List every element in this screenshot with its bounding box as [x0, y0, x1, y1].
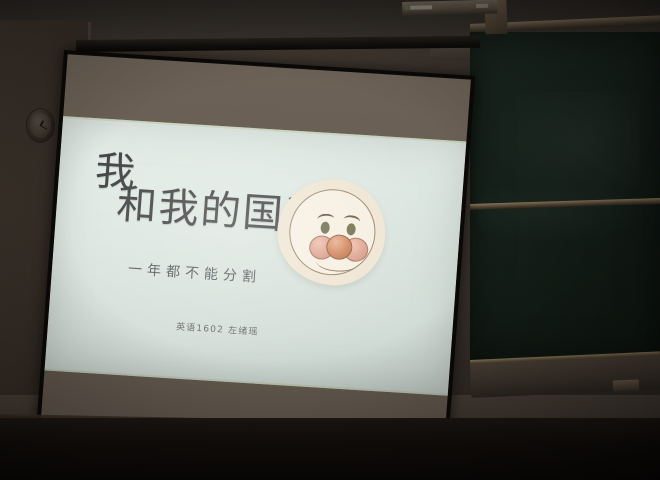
anpanman-face-illustration — [274, 176, 390, 288]
projected-image-area: 我 和我的国奖 一年都不能分割 英语1602 左绪瑶 — [44, 116, 466, 396]
screen-fabric: 我 和我的国奖 一年都不能分割 英语1602 左绪瑶 — [40, 54, 470, 450]
chalk-ledge — [470, 355, 660, 398]
slide-subtitle: 一年都不能分割 — [127, 258, 261, 286]
indicator-led-icon — [405, 6, 409, 10]
screen-frame: 我 和我的国奖 一年都不能分割 英语1602 左绪瑶 — [36, 50, 475, 455]
projection-screen: 我 和我的国奖 一年都不能分割 英语1602 左绪瑶 — [58, 40, 478, 445]
wall-clock — [26, 108, 55, 143]
eye-right-icon — [346, 223, 356, 236]
blackboard — [470, 8, 660, 428]
presentation-slide: 我 和我的国奖 一年都不能分割 英语1602 左绪瑶 — [44, 116, 466, 396]
slide-byline: 英语1602 左绪瑶 — [176, 320, 260, 338]
screen-mount-strip — [402, 0, 497, 16]
chalk-smudge-secondary — [478, 182, 648, 242]
foreground-desk — [0, 418, 660, 480]
ledge-bracket — [613, 379, 639, 391]
blackboard-upper-panel — [470, 32, 660, 362]
eye-left-icon — [320, 221, 330, 234]
mount-label-plate-secondary — [476, 4, 488, 8]
clock-minute-hand — [40, 125, 48, 130]
clock-face — [30, 113, 51, 138]
mount-label-plate — [410, 5, 432, 10]
classroom-scene: 我 和我的国奖 一年都不能分割 英语1602 左绪瑶 — [0, 0, 660, 480]
